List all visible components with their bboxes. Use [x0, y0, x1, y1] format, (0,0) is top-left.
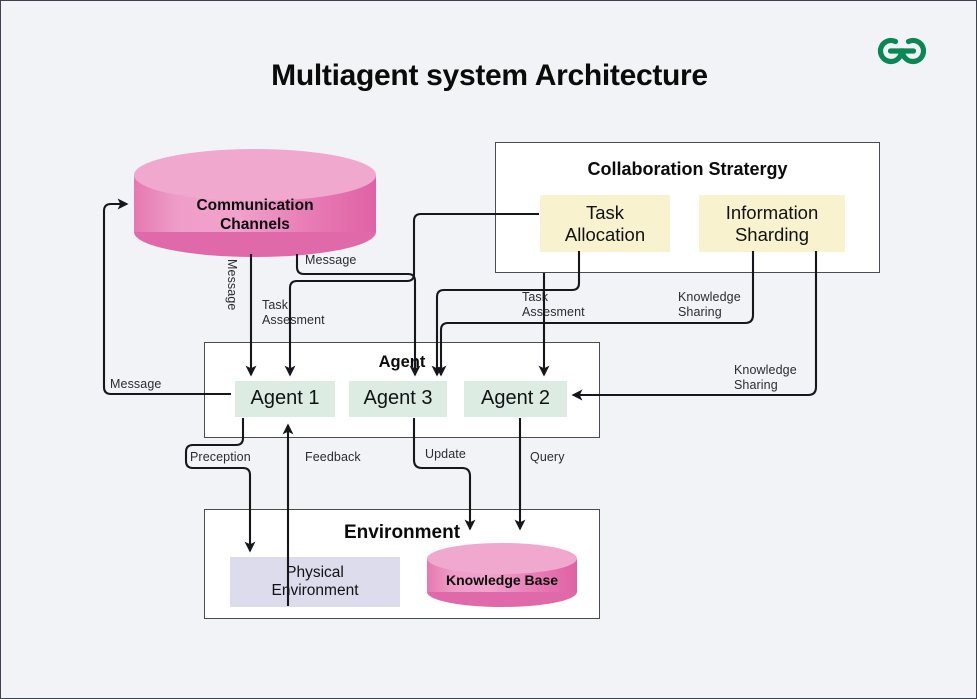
information-sharding-chip[interactable]: Information Sharding [699, 195, 845, 252]
page-title: Multiagent system Architecture [1, 59, 977, 93]
information-sharding-line2: Sharding [726, 224, 819, 246]
edge-label-query: Query [530, 450, 565, 465]
information-sharding-line1: Information [726, 202, 819, 224]
diagram-canvas: Multiagent system Architecture Communica… [0, 0, 977, 699]
environment-box: Environment Physical Environment Knowled… [204, 509, 600, 619]
agent-3-chip[interactable]: Agent 3 [349, 381, 447, 417]
edge-label-knowledge-sharing-lower: Knowledge Sharing [734, 363, 797, 393]
task-allocation-chip[interactable]: Task Allocation [540, 195, 670, 252]
environment-title: Environment [205, 522, 599, 544]
physical-environment-chip[interactable]: Physical Environment [230, 557, 400, 607]
edge-label-update: Update [425, 447, 466, 462]
collaboration-strategy-title: Collaboration Stratergy [496, 159, 879, 180]
communication-channels-line2: Channels [134, 216, 376, 235]
agent-group-box: Agent Agent 1 Agent 3 Agent 2 [204, 342, 600, 438]
task-allocation-line2: Allocation [565, 224, 645, 246]
edge-label-knowledge-sharing-upper: Knowledge Sharing [678, 290, 741, 320]
communication-channels-node: Communication Channels [134, 149, 376, 259]
edge-label-message-vertical: Message [224, 259, 239, 310]
physical-environment-line1: Physical [271, 564, 358, 582]
knowledge-base-label: Knowledge Base [427, 572, 577, 588]
knowledge-base-node[interactable]: Knowledge Base [427, 543, 577, 609]
cylinder-top [134, 149, 376, 201]
communication-channels-label: Communication Channels [134, 197, 376, 234]
edge-label-message-to-cylinder: Message [110, 377, 161, 392]
geeksforgeeks-logo [869, 31, 935, 71]
edge-label-message-from-cylinder: Message [305, 253, 356, 268]
edge-label-task-assesment-left: Task Assesment [262, 298, 325, 328]
agent-group-title: Agent [205, 353, 599, 372]
communication-channels-line1: Communication [134, 197, 376, 216]
edge-label-preception: Preception [190, 450, 251, 465]
physical-environment-line2: Environment [271, 582, 358, 600]
task-allocation-line1: Task [565, 202, 645, 224]
collaboration-strategy-box: Collaboration Stratergy Task Allocation … [495, 142, 880, 273]
edge-label-task-assesment-right: Task Assesment [522, 290, 585, 320]
agent-2-chip[interactable]: Agent 2 [464, 381, 567, 417]
agent-1-chip[interactable]: Agent 1 [235, 381, 335, 417]
edge-label-feedback: Feedback [305, 450, 361, 465]
knowledge-base-cylinder-top [427, 543, 577, 574]
